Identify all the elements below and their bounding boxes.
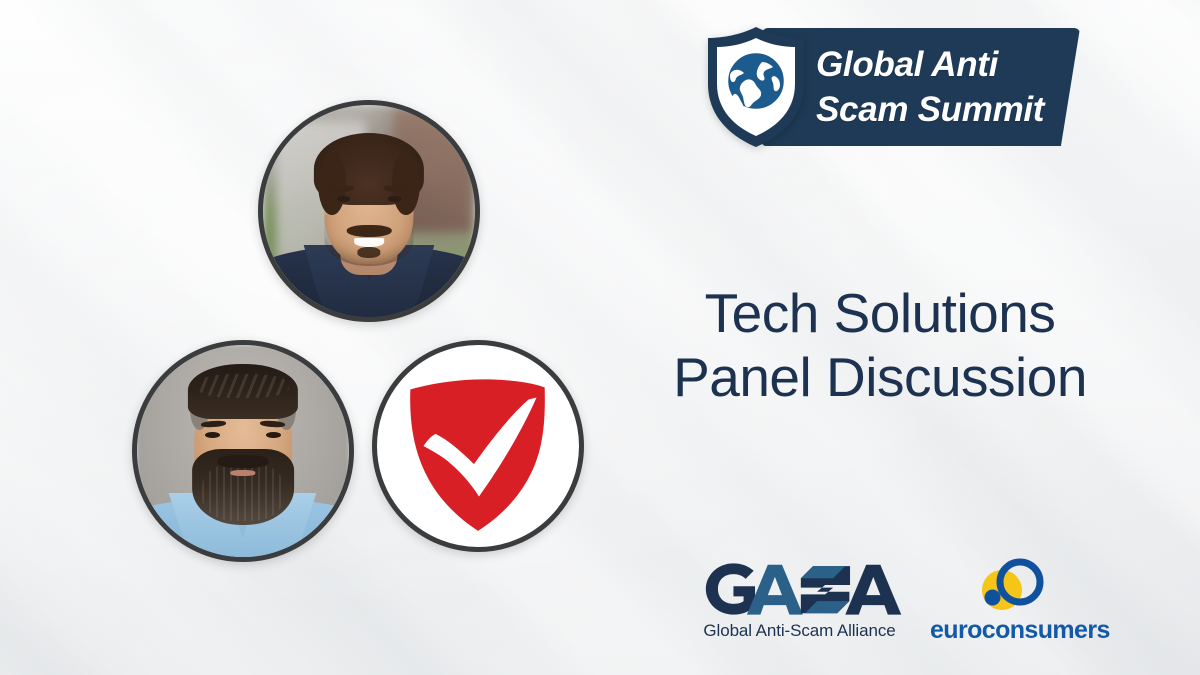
shield-globe-icon: [700, 24, 812, 150]
page-title: Tech Solutions Panel Discussion: [600, 281, 1160, 409]
euroconsumers-logo: euroconsumers: [930, 556, 1092, 648]
summit-banner-text: Global Anti Scam Summit: [816, 42, 1044, 132]
euroconsumers-mark-icon: [930, 556, 1092, 614]
speaker-portrait-2: [132, 340, 354, 562]
partner-logo: [372, 340, 584, 552]
euroconsumers-wordmark: euroconsumers: [930, 616, 1092, 645]
gasa-wordmark-icon: [697, 558, 902, 620]
gasa-tagline: Global Anti-Scam Alliance: [697, 621, 902, 641]
slide-canvas: Global Anti Scam Summit Tech Solutions P…: [0, 0, 1200, 675]
red-shield-check-icon: [377, 345, 579, 547]
summit-banner: Global Anti Scam Summit: [700, 28, 1080, 148]
gasa-logo: Global Anti-Scam Alliance: [697, 558, 902, 648]
speaker-portrait-2-image: [137, 345, 349, 557]
speaker-portrait-1: [258, 100, 480, 322]
speaker-portrait-1-image: [263, 105, 475, 317]
